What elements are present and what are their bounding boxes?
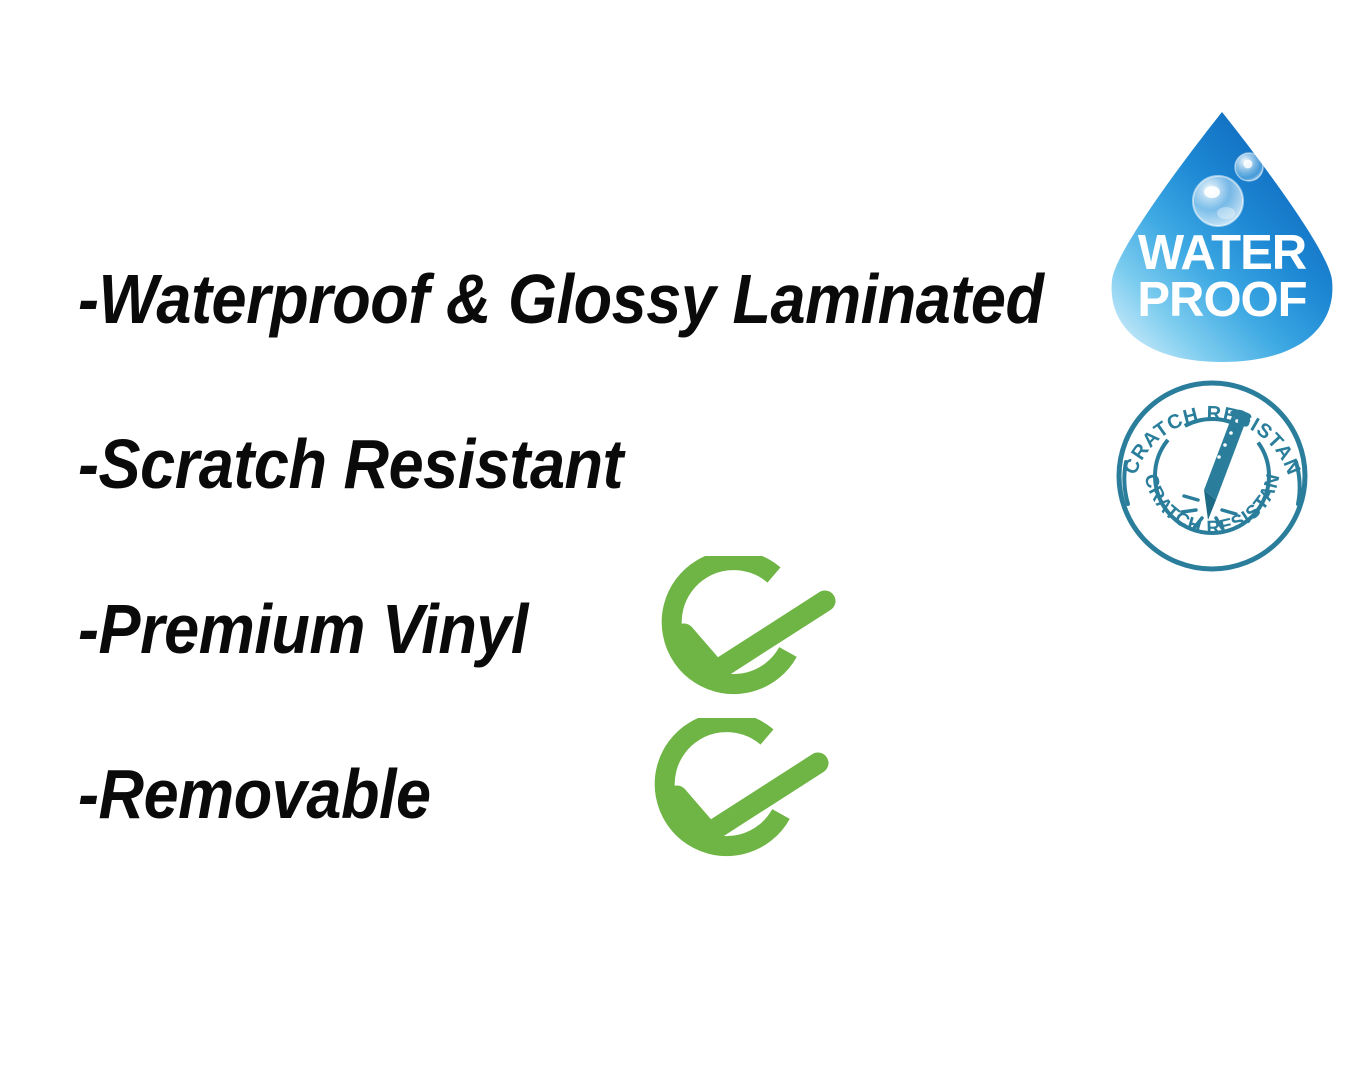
waterproof-badge: WATER PROOF [1096,104,1348,372]
waterproof-line2: PROOF [1137,273,1306,327]
feature-item-waterproof-glossy-laminated: -Waterproof & Glossy Laminated [78,264,1044,334]
scratch-top-arc-text: SCRATCH RESISTANT [1112,378,1305,479]
waterproof-line1: WATER [1138,226,1307,280]
feature-item-premium-vinyl: -Premium Vinyl [78,594,528,664]
bubble-large-icon [1193,176,1243,226]
product-feature-graphic: -Waterproof & Glossy Laminated -Scratch … [0,0,1359,1080]
feature-item-removable: -Removable [78,759,431,829]
check-circle-premium-vinyl-icon [640,556,848,716]
feature-item-scratch-resistant: -Scratch Resistant [78,429,623,499]
check-mark [677,763,818,833]
scratch-resistant-badge: SCRATCH RESISTANT SCRATCH RESISTANT [1112,378,1312,574]
check-circle-removable-icon [633,718,841,878]
check-mark [684,601,825,671]
feature-list: -Waterproof & Glossy Laminated -Scratch … [0,0,1100,1080]
